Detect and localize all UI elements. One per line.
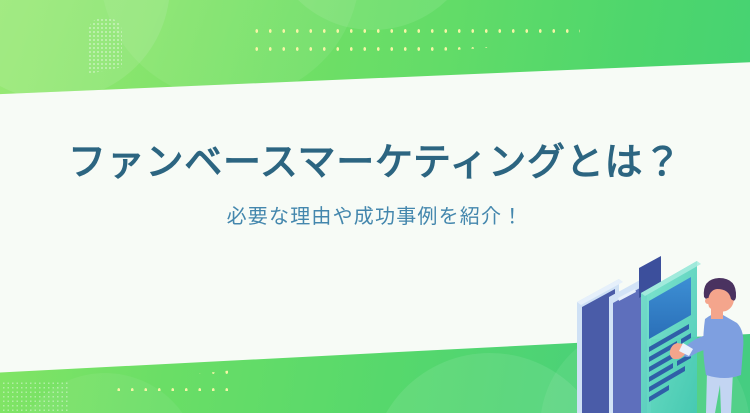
headline-block: ファンベースマーケティングとは？ 必要な理由や成功事例を紹介！ (0, 140, 750, 230)
dot-texture-patch (88, 18, 122, 74)
dot-texture-patch (0, 381, 68, 413)
page-subtitle: 必要な理由や成功事例を紹介！ (0, 204, 750, 230)
page-title: ファンベースマーケティングとは？ (0, 140, 750, 186)
article-hero-banner: ファンベースマーケティングとは？ 必要な理由や成功事例を紹介！ (0, 0, 750, 413)
kiosk-illustration-svg (565, 253, 750, 413)
hero-illustration (565, 253, 750, 413)
